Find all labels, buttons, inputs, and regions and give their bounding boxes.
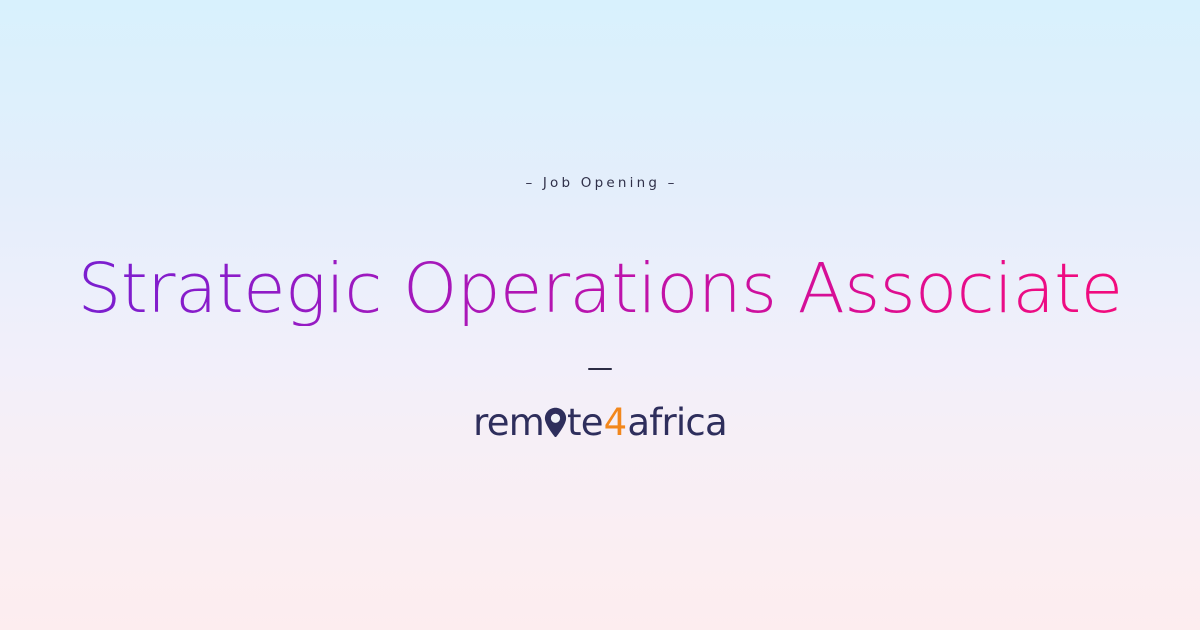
page-title: Strategic Operations Associate: [78, 253, 1123, 326]
eyebrow-label: – Job Opening –: [522, 177, 677, 191]
map-pin-icon: [544, 407, 567, 438]
brand-logo: rem te 4 africa: [473, 404, 727, 441]
divider: [588, 368, 612, 370]
brand-text-rem: rem: [473, 404, 544, 441]
job-opening-og-card: – Job Opening – Strategic Operations Ass…: [0, 0, 1200, 630]
brand-numeral-four: 4: [603, 404, 628, 441]
brand-text-africa: africa: [627, 404, 726, 441]
brand-text-te: te: [567, 404, 603, 441]
card-content: – Job Opening – Strategic Operations Ass…: [0, 177, 1200, 441]
